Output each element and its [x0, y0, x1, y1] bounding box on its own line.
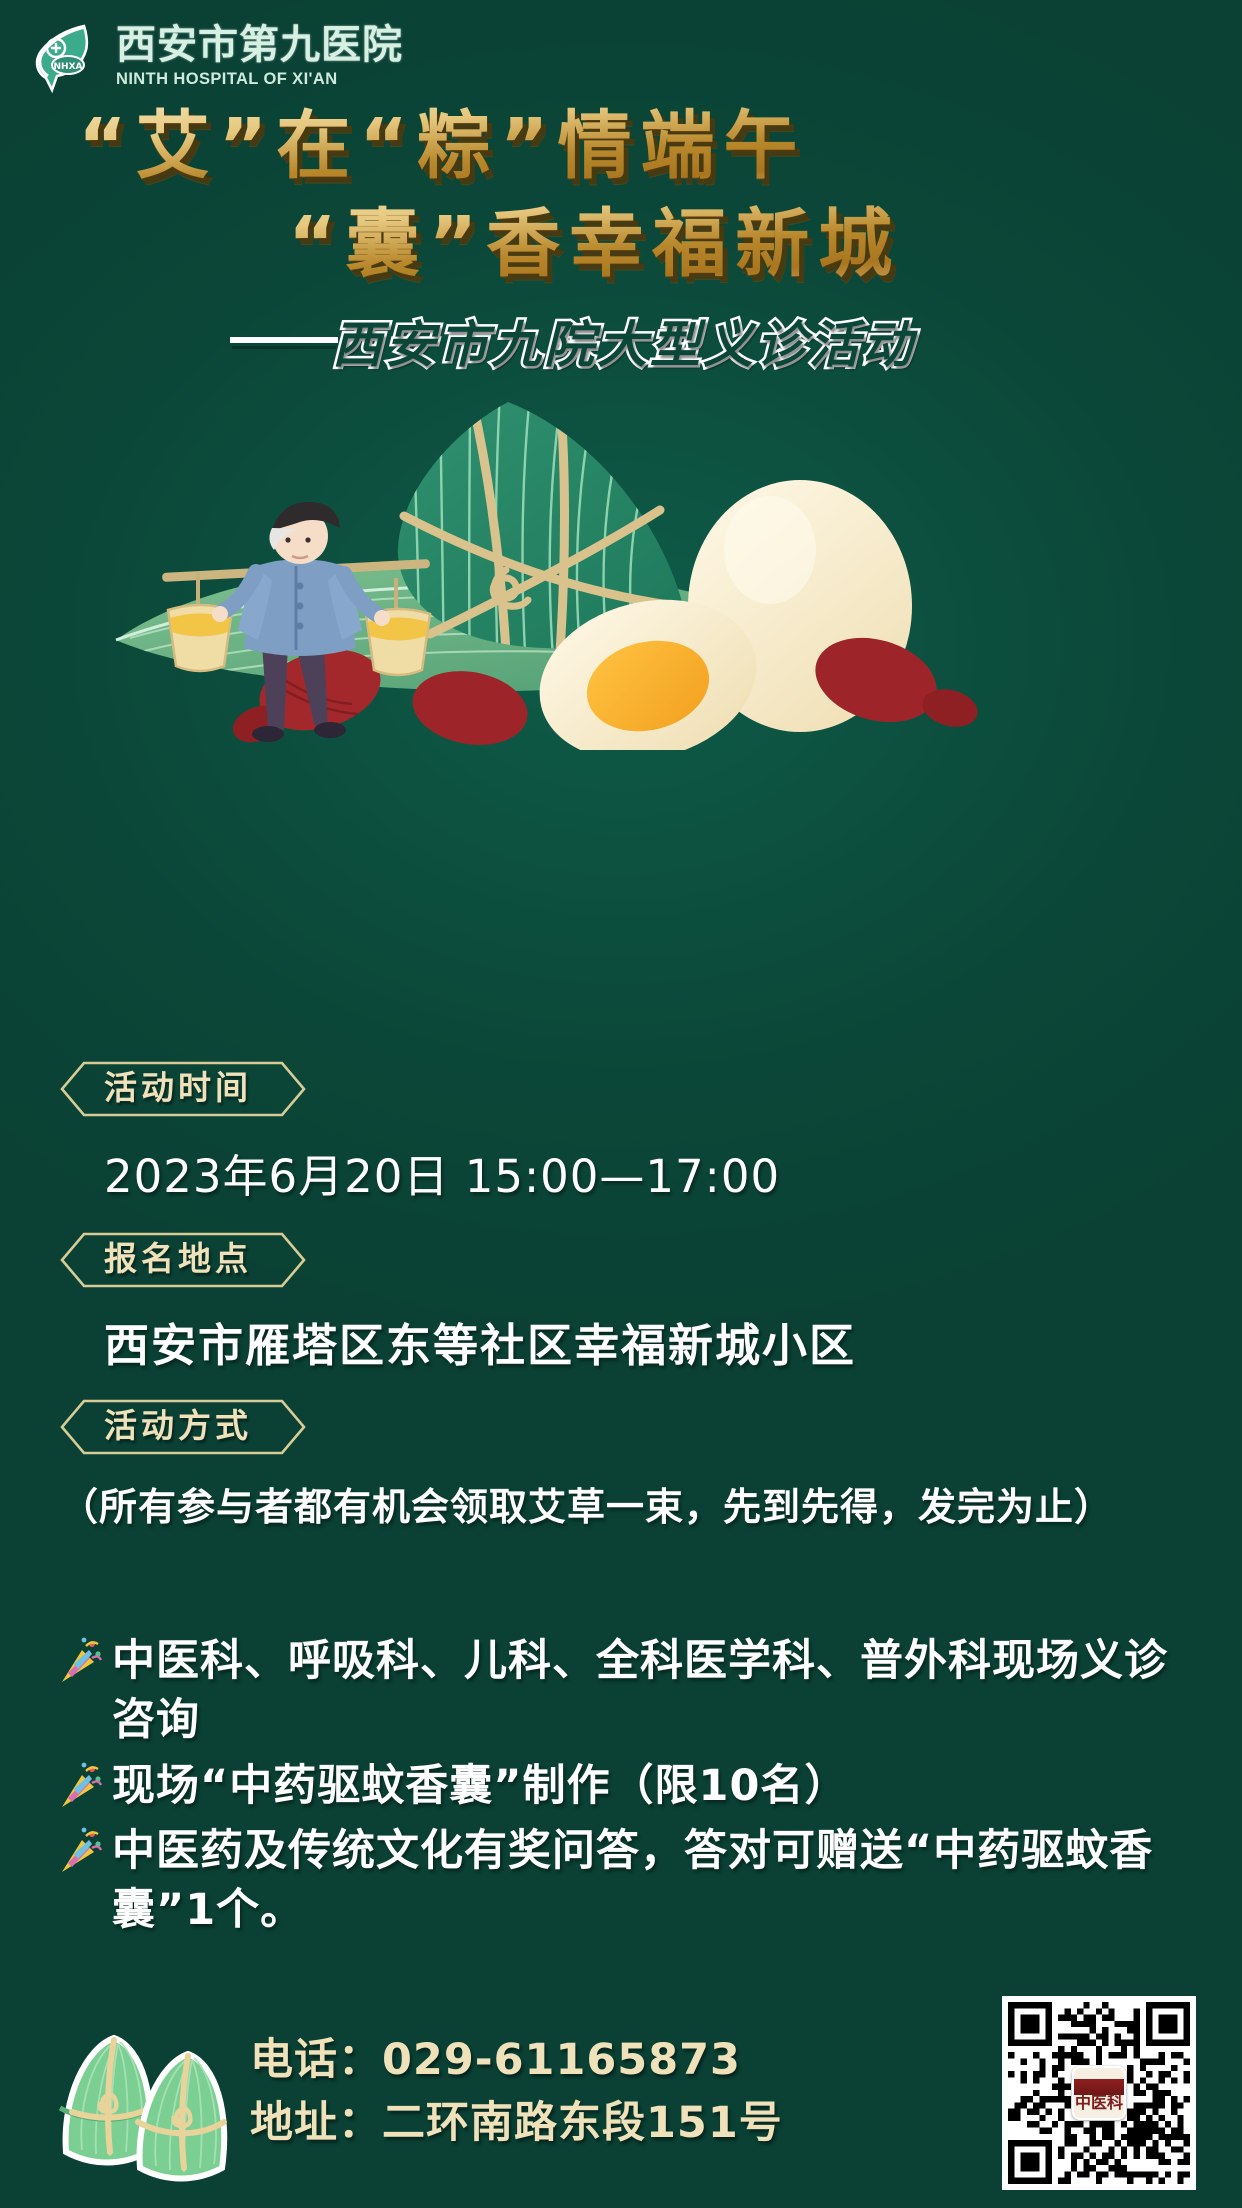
- contact-phone: 电话：029-61165873: [250, 2029, 783, 2091]
- party-popper-icon: [56, 1761, 102, 1813]
- activity-list: 中医科、呼吸科、儿科、全科医学科、普外科现场义诊咨询 现场“中药驱蚊香囊”制作（…: [0, 1632, 1242, 1947]
- hospital-name-cn: 西安市第九医院: [116, 25, 403, 65]
- wechat-qr-code[interactable]: 中医科: [1002, 1996, 1196, 2190]
- event-info-section: 活动时间 2023年6月20日 15:00—17:00 报名地点 西安市雁塔区东…: [0, 1060, 1242, 1531]
- dove-cross-logo-icon: NHXA: [26, 20, 106, 94]
- list-item: 现场“中药驱蚊香囊”制作（限10名）: [56, 1757, 1202, 1816]
- zongzi-pair-icon: [52, 2002, 252, 2182]
- event-mode-note: （所有参与者都有机会领取艾草一束，先到先得，发完为止）: [60, 1476, 1242, 1531]
- poster-subtitle: 西安市九院大型义诊活动: [332, 305, 915, 377]
- tag-event-mode-label: 活动方式: [58, 1398, 298, 1456]
- logo-monogram: NHXA: [54, 62, 83, 72]
- list-item: 中医药及传统文化有奖问答，答对可赠送“中药驱蚊香囊”1个。: [56, 1822, 1202, 1941]
- poster-title-line-1: “艾”在“粽”情端午: [0, 104, 1242, 188]
- event-place-value: 西安市雁塔区东等社区幸福新城小区: [104, 1309, 1242, 1374]
- party-popper-icon: [56, 1636, 102, 1688]
- tag-event-time-label: 活动时间: [58, 1060, 298, 1118]
- hospital-logo-bar: NHXA 西安市第九医院 NINTH HOSPITAL OF XI'AN: [26, 14, 446, 100]
- event-time-value: 2023年6月20日 15:00—17:00: [104, 1140, 1242, 1205]
- poster-title-line-2: “囊”香幸福新城: [0, 202, 1242, 286]
- hospital-name-en: NINTH HOSPITAL OF XI'AN: [116, 68, 403, 90]
- dragon-boat-festival-zongzi-illustration: [0, 390, 1242, 750]
- tag-event-place: 报名地点: [58, 1231, 298, 1289]
- subtitle-dash-rule: [230, 337, 338, 346]
- qr-center-label: 中医科: [1075, 2095, 1123, 2118]
- list-item-text: 中医科、呼吸科、儿科、全科医学科、普外科现场义诊咨询: [112, 1632, 1202, 1751]
- list-item: 中医科、呼吸科、儿科、全科医学科、普外科现场义诊咨询: [56, 1632, 1202, 1751]
- qr-center-logo: 中医科: [1072, 2066, 1126, 2120]
- hospital-name-block: 西安市第九医院 NINTH HOSPITAL OF XI'AN: [116, 23, 403, 90]
- tag-event-time: 活动时间: [58, 1060, 298, 1118]
- list-item-text: 现场“中药驱蚊香囊”制作（限10名）: [112, 1757, 848, 1816]
- party-popper-icon: [56, 1826, 102, 1878]
- tag-event-mode: 活动方式: [58, 1398, 298, 1456]
- tag-event-place-label: 报名地点: [58, 1231, 298, 1289]
- poster-title-block: “艾”在“粽”情端午 “囊”香幸福新城: [0, 104, 1242, 287]
- contact-address: 地址：二环南路东段151号: [250, 2092, 783, 2154]
- contact-block: 电话：029-61165873 地址：二环南路东段151号: [250, 2029, 783, 2154]
- poster-footer: 电话：029-61165873 地址：二环南路东段151号 中医科: [0, 1978, 1242, 2208]
- poster-subtitle-row: 西安市九院大型义诊活动: [0, 305, 1242, 377]
- list-item-text: 中医药及传统文化有奖问答，答对可赠送“中药驱蚊香囊”1个。: [112, 1822, 1202, 1941]
